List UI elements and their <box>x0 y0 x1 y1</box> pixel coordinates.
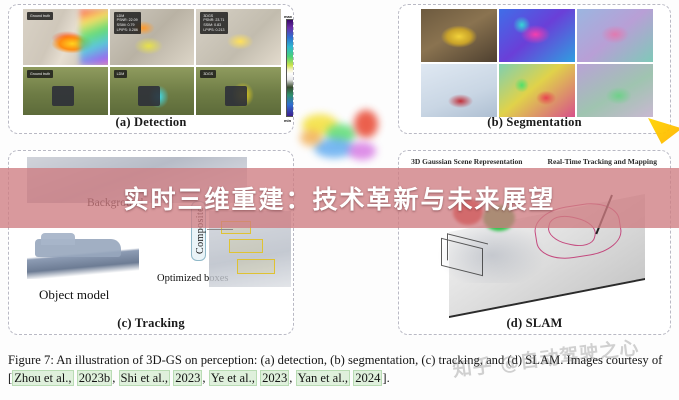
caption-bracket-close: ]. <box>382 371 389 385</box>
segmentation-cell-rgb-2 <box>421 64 497 117</box>
panel-caption-segmentation: (b) Segmentation <box>399 115 670 130</box>
detection-bottom-badge-ldm: LDM <box>114 70 128 78</box>
tracking-object-model-car <box>27 229 139 279</box>
blob-orange <box>300 130 322 146</box>
citation-ye-year[interactable]: 2023 <box>260 370 289 386</box>
detection-badge-ground-truth: Ground truth <box>27 12 53 20</box>
citation-zhou-year[interactable]: 2023b <box>77 370 112 386</box>
segmentation-cell-render-2 <box>577 64 653 117</box>
detection-image-ground-truth: Ground truth <box>23 9 108 65</box>
caption-text: Figure 7: An illustration of 3D-GS on pe… <box>8 353 662 367</box>
panel-caption-slam: (d) SLAM <box>399 316 670 331</box>
title-banner: 实时三维重建：技术革新与未来展望 <box>0 168 679 228</box>
detection-car-object <box>225 86 247 106</box>
detection-car-object <box>52 86 74 106</box>
citation-ye-author[interactable]: Ye et al., <box>209 370 257 386</box>
citation-shi-author[interactable]: Shi et al., <box>119 370 171 386</box>
panel-caption-detection: (a) Detection <box>9 115 293 130</box>
gaussian-blob-cluster <box>300 108 392 170</box>
detection-bottom-image-ground-truth: Ground truth <box>23 67 108 115</box>
detection-bottom-image-ldm: LDM <box>110 67 195 115</box>
detection-bottom-badge-3dgs: 3DGS <box>200 70 216 78</box>
detection-bottom-row: Ground truth LDM 3DGS <box>23 67 281 115</box>
tracking-label-object-model: Object model <box>39 287 109 303</box>
citation-shi-year[interactable]: 2023 <box>173 370 202 386</box>
segmentation-image-grid <box>421 9 653 117</box>
figure-caption: Figure 7: An illustration of 3D-GS on pe… <box>8 352 672 388</box>
citation-yan-author[interactable]: Yan et al., <box>296 370 351 386</box>
colorbar-gradient <box>286 19 294 117</box>
colorbar: max min <box>285 13 294 123</box>
detection-image-ldm: LDM PSNR: 22.09 SSIM: 0.79 LPIPS: 0.286 <box>110 9 195 65</box>
detection-image-3dgs: 3DGS PSNR: 23.71 SSIM: 0.83 LPIPS: 0.213 <box>196 9 281 65</box>
slam-header-left: 3D Gaussian Scene Representation <box>399 157 535 166</box>
segmentation-cell-mask-2 <box>499 64 575 117</box>
panel-detection: Ground truth LDM PSNR: 22.09 SSIM: 0.79 … <box>8 4 294 134</box>
citation-zhou-author[interactable]: Zhou et al., <box>12 370 73 386</box>
blob-magenta <box>348 142 376 160</box>
citation-yan-year[interactable]: 2024 <box>353 370 382 386</box>
detection-badge-3dgs: 3DGS PSNR: 23.71 SSIM: 0.83 LPIPS: 0.213 <box>200 12 227 34</box>
slam-header-right: Real-Time Tracking and Mapping <box>535 157 671 166</box>
segmentation-cell-rgb-1 <box>421 9 497 62</box>
tracking-bbox <box>237 259 275 274</box>
blob-red <box>354 110 378 138</box>
tracking-arrow <box>207 229 233 230</box>
panel-caption-tracking: (c) Tracking <box>9 316 293 331</box>
segmentation-cell-render-1 <box>577 9 653 62</box>
banner-title-text: 实时三维重建：技术革新与未来展望 <box>123 180 555 216</box>
tracking-bbox <box>229 239 263 253</box>
detection-badge-ldm: LDM PSNR: 22.09 SSIM: 0.79 LPIPS: 0.286 <box>114 12 141 34</box>
detection-top-row: Ground truth LDM PSNR: 22.09 SSIM: 0.79 … <box>23 9 281 65</box>
figure-page: Ground truth LDM PSNR: 22.09 SSIM: 0.79 … <box>0 0 679 400</box>
detection-car-object <box>138 86 160 106</box>
detection-bottom-image-3dgs: 3DGS <box>196 67 281 115</box>
segmentation-cell-mask-1 <box>499 9 575 62</box>
panel-segmentation: (b) Segmentation <box>398 4 671 134</box>
detection-bottom-badge-ground-truth: Ground truth <box>27 70 53 78</box>
